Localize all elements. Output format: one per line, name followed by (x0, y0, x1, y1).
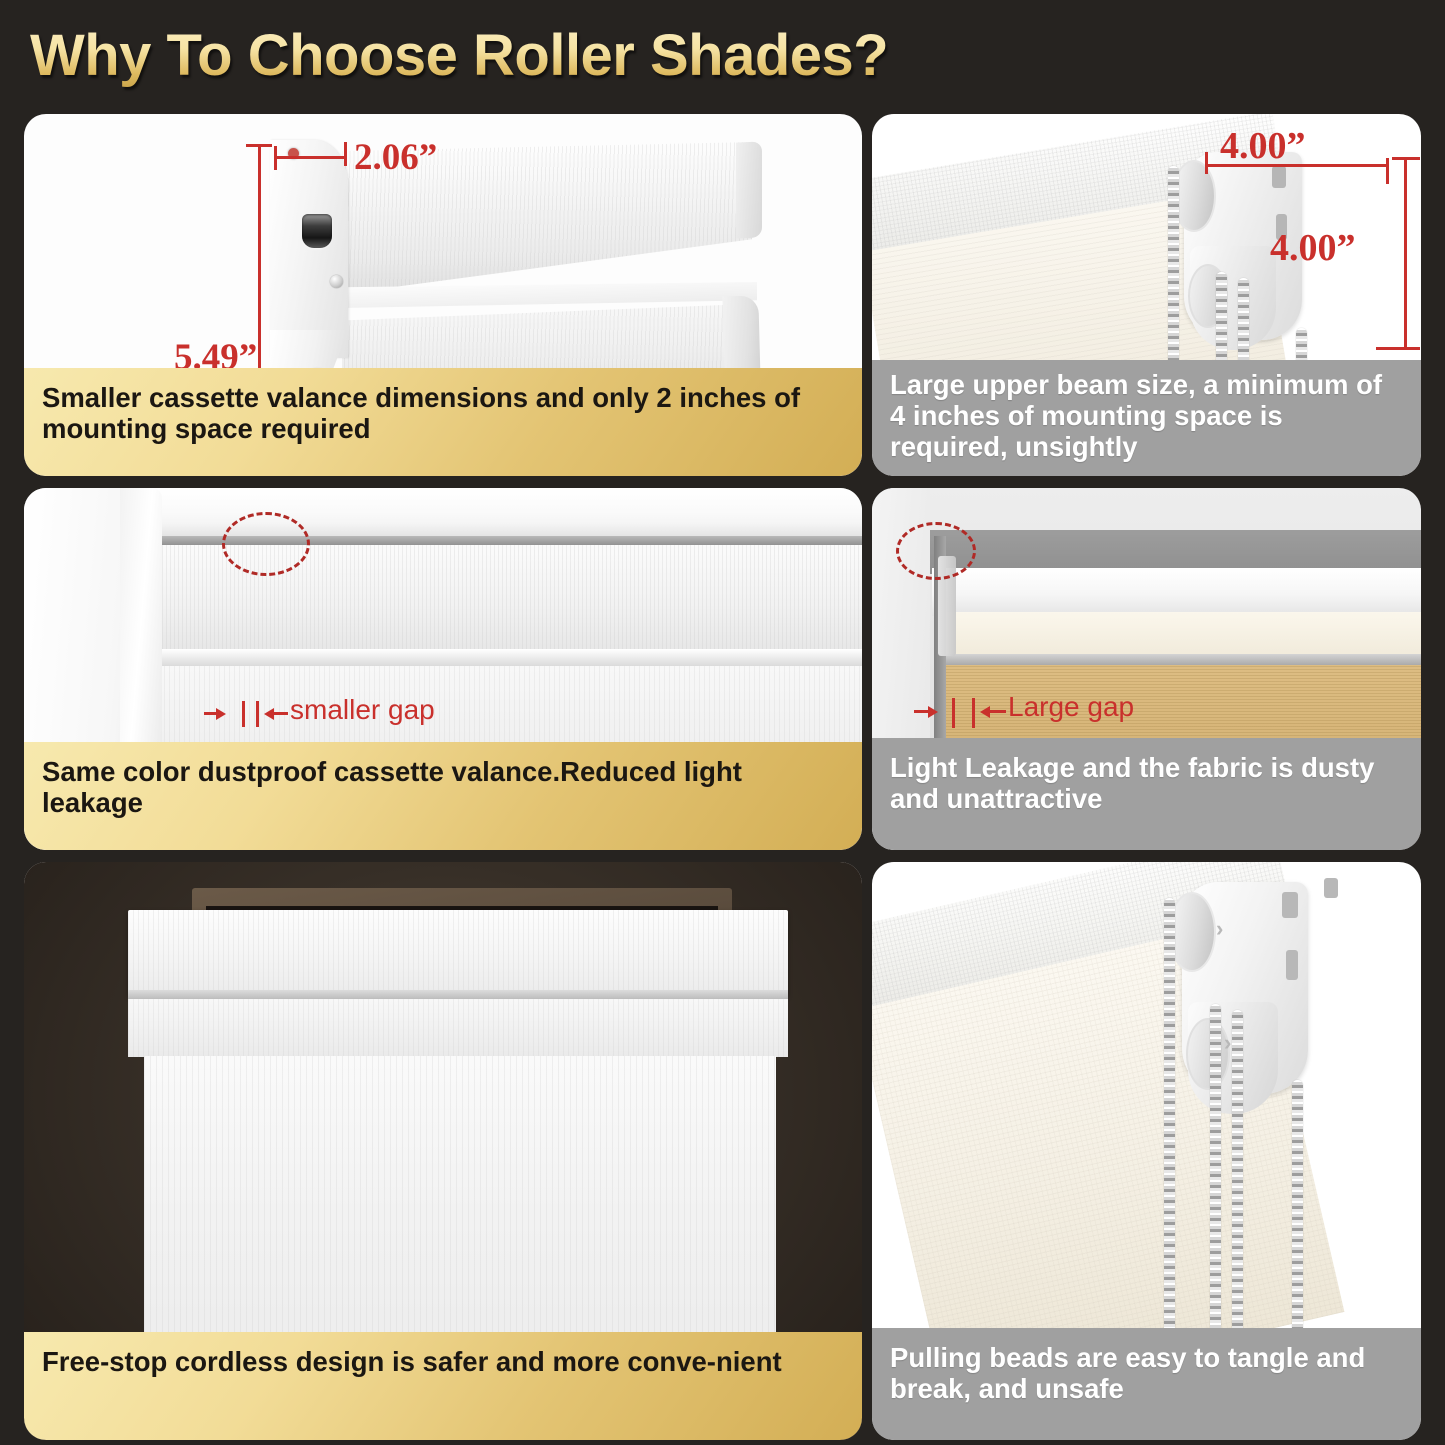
gap-marker-right (256, 701, 259, 727)
cream-band (934, 612, 1421, 656)
gap-label-large: Large gap (1008, 691, 1134, 723)
gap-marker-right (972, 698, 975, 728)
gap-arrow-right-tail (274, 712, 288, 715)
bracket-arrow-icon: › (1216, 916, 1223, 942)
panel-light-leakage: Large gap Light Leakage and the fabric i… (872, 488, 1421, 850)
caption-light-leakage: Light Leakage and the fabric is dusty an… (872, 738, 1421, 850)
panel-cordless-design: Free-stop cordless design is safer and m… (24, 862, 862, 1440)
valance-chain-slot (302, 214, 332, 248)
cassette-lip (150, 649, 862, 667)
beam-height-dimension-line (1404, 158, 1407, 350)
gap-label-smaller: smaller gap (290, 694, 435, 726)
caption-cordless-design: Free-stop cordless design is safer and m… (24, 1332, 862, 1440)
panel-dustproof-valance: smaller gap Same color dustproof cassett… (24, 488, 862, 850)
cassette-headrail-upper (128, 910, 788, 996)
page-title: Why To Choose Roller Shades? (30, 22, 888, 89)
caption-large-upper-beam: Large upper beam size, a minimum of 4 in… (872, 360, 1421, 476)
beam-height-tick-bottom (1376, 347, 1420, 350)
shade-fabric (144, 1056, 776, 1376)
gap-arrow-left-tail (914, 710, 930, 713)
roller-endcap-disc (1168, 892, 1216, 972)
gap-marker-left (242, 701, 245, 727)
valance-endcap-plate (270, 140, 348, 358)
cassette-headrail-lower (128, 999, 788, 1057)
comparison-grid: 5.49” 2.06” Smaller cassette valance dim… (0, 108, 1445, 1445)
bracket-slot-lower (1286, 950, 1298, 980)
width-dimension-tick-left (274, 146, 277, 170)
gap-arrow-left-tail (204, 712, 218, 715)
valance-screw (330, 275, 343, 288)
panel-smaller-cassette: 5.49” 2.06” Smaller cassette valance dim… (24, 114, 862, 476)
width-dimension-label: 2.06” (354, 136, 437, 179)
caption-dustproof-valance: Same color dustproof cassette valance.Re… (24, 742, 862, 850)
width-dimension-line (274, 156, 346, 159)
gap-marker-left (952, 698, 955, 728)
bracket-slot-upper (1282, 892, 1298, 918)
bracket-slot-upper (1272, 166, 1286, 188)
gap-arrow-right-tail (990, 710, 1006, 713)
gap-arrow-left-icon (264, 708, 274, 720)
height-dimension-tick-top (246, 144, 272, 147)
beam-height-tick-top (1392, 157, 1420, 160)
bracket-slot-edge (1324, 878, 1338, 898)
caption-smaller-cassette: Smaller cassette valance dimensions and … (24, 368, 862, 476)
gap-arrow-left-icon (980, 706, 990, 718)
beam-width-label: 4.00” (1220, 124, 1306, 168)
beam-width-tick-right (1386, 158, 1389, 184)
highlight-circle-annotation (896, 522, 976, 580)
caption-pulling-beads: Pulling beads are easy to tangle and bre… (872, 1328, 1421, 1440)
upper-beam (932, 568, 1421, 616)
panel-pulling-beads: › › Pulling beads are easy to tangle and… (872, 862, 1421, 1440)
bracket-arrow-icon-lower: › (1224, 1030, 1231, 1056)
beam-height-label: 4.00” (1270, 226, 1356, 270)
panel-large-upper-beam: 4.00” 4.00” Large upper beam size, a min… (872, 114, 1421, 476)
valance-right-cap (736, 141, 762, 238)
highlight-circle-annotation (222, 512, 310, 576)
valance-body-lip (342, 282, 757, 308)
width-dimension-tick-right (344, 142, 347, 166)
beam-width-tick-left (1205, 152, 1208, 174)
